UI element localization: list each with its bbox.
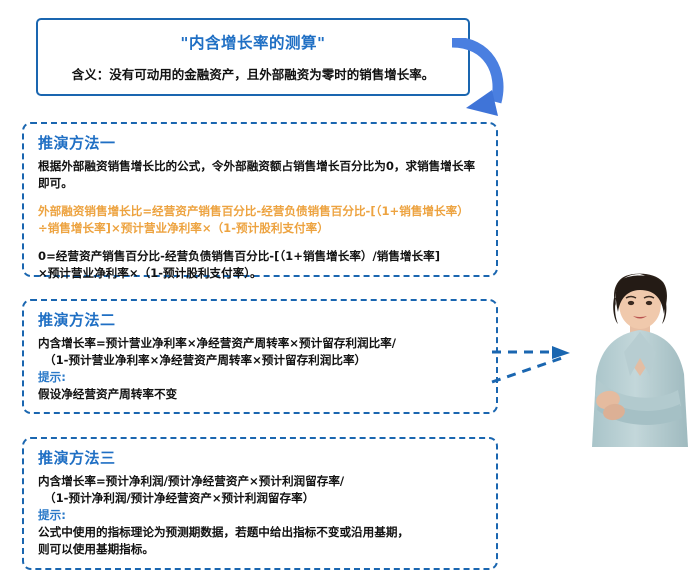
definition-title: "内含增长率的测算" (38, 31, 468, 53)
spacer (38, 237, 486, 248)
definition-meaning: 含义：没有可动用的金融资产，且外部融资为零时的销售增长率。 (38, 64, 468, 83)
method-two-hint-line-1: 假设净经营资产周转率不变 (38, 386, 486, 403)
method-one-intro: 根据外部融资销售增长比的公式，令外部融资额占销售增长百分比为0，求销售增长率即可… (38, 158, 486, 192)
method-one-black-formula-line-1: 0=经营资产销售百分比-经营负债销售百分比-[（1+销售增长率）/销售增长率] (38, 248, 486, 265)
method-box-three: 推演方法三 内含增长率=预计净利润/预计净经营资产×预计利润留存率/ （1-预计… (22, 437, 498, 570)
presenter-photo (578, 272, 700, 447)
method-one-body: 根据外部融资销售增长比的公式，令外部融资额占销售增长百分比为0，求销售增长率即可… (38, 158, 486, 282)
method-one-heading: 推演方法一 (38, 132, 116, 153)
method-three-heading: 推演方法三 (38, 447, 116, 468)
method-one-black-formula-line-2: ×预计营业净利率×（1-预计股利支付率）。 (38, 265, 486, 282)
definition-box: "内含增长率的测算" 含义：没有可动用的金融资产，且外部融资为零时的销售增长率。 (36, 18, 470, 96)
method-three-formula-line-1: 内含增长率=预计净利润/预计净经营资产×预计利润留存率/ (38, 473, 486, 490)
method-two-heading: 推演方法二 (38, 309, 116, 330)
method-one-orange-formula-line-2: ÷销售增长率]×预计营业净利率×（1-预计股利支付率） (38, 220, 486, 237)
method-box-one: 推演方法一 根据外部融资销售增长比的公式，令外部融资额占销售增长百分比为0，求销… (22, 122, 498, 277)
method-one-orange-formula-line-1: 外部融资销售增长比=经营资产销售百分比-经营负债销售百分比-[（1+销售增长率） (38, 203, 486, 220)
method-two-body: 内含增长率=预计营业净利率×净经营资产周转率×预计留存利润比率/ （1-预计营业… (38, 335, 486, 403)
method-three-hint-label: 提示: (38, 507, 486, 524)
method-two-hint-label: 提示: (38, 369, 486, 386)
method-two-formula-line-2: （1-预计营业净利率×净经营资产周转率×预计留存利润比率） (38, 352, 366, 369)
spacer (38, 192, 486, 203)
method-three-hint-line-2: 则可以使用基期指标。 (38, 541, 486, 558)
method-box-two: 推演方法二 内含增长率=预计营业净利率×净经营资产周转率×预计留存利润比率/ （… (22, 299, 498, 414)
method-three-hint-line-1: 公式中使用的指标理论为预测期数据，若题中给出指标不变或沿用基期， (38, 524, 486, 541)
method-three-formula-line-2: （1-预计净利润/预计净经营资产×预计利润留存率） (38, 490, 314, 507)
method-two-formula-line-1: 内含增长率=预计营业净利率×净经营资产周转率×预计留存利润比率/ (38, 335, 486, 352)
method-three-body: 内含增长率=预计净利润/预计净经营资产×预计利润留存率/ （1-预计净利润/预计… (38, 473, 486, 558)
